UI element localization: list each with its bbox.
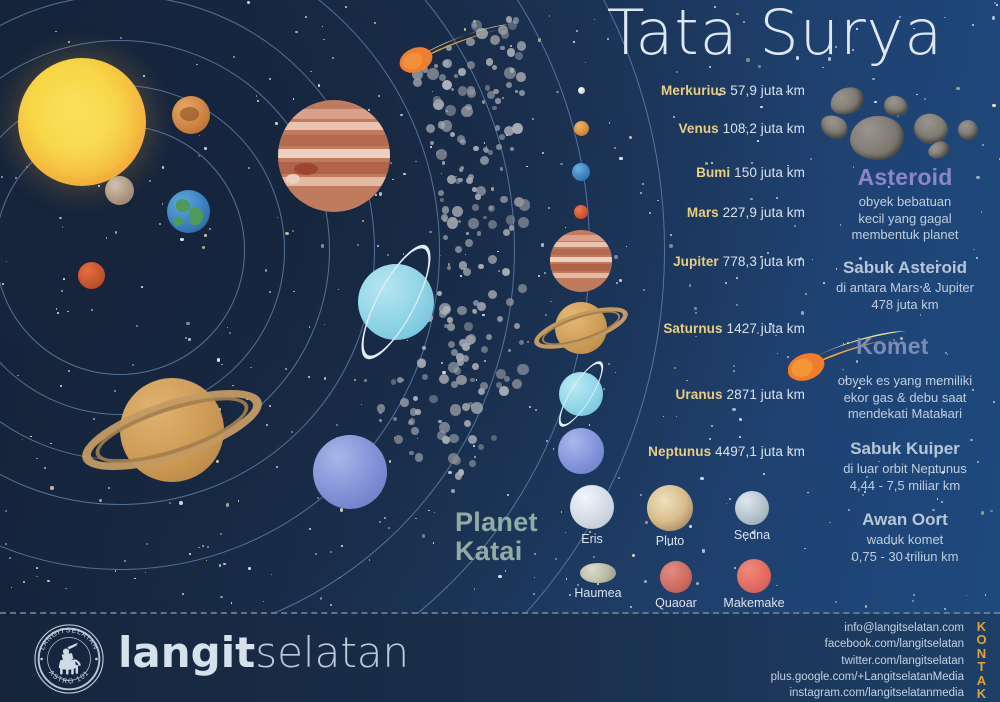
planet-row: Jupiter 778,3 juta km xyxy=(545,230,805,292)
planet-row: Venus 108,2 juta km xyxy=(545,118,805,138)
brand-thin: selatan xyxy=(255,628,409,677)
asteroid-belt-heading: Sabuk Asteroid xyxy=(810,258,1000,278)
planet-label: Neptunus 4497,1 juta km xyxy=(648,444,805,459)
infographic-poster: Tata Surya Merkurius 57,9 juta kmVenus 1… xyxy=(0,0,1000,702)
sun-illustration xyxy=(18,58,146,186)
planet-distance: 227,9 juta km xyxy=(719,205,805,220)
comet-heading: Komet xyxy=(856,333,929,360)
dwarf-planet-item: Eris xyxy=(560,485,624,546)
planet-row: Bumi 150 juta km xyxy=(545,162,805,182)
kuiper-belt-desc-line1: di luar orbit Neptunus xyxy=(810,461,1000,478)
right-info-column: Asteroid obyek bebatuan kecil yang gagal… xyxy=(810,86,1000,566)
jupiter-map-illustration xyxy=(278,100,390,212)
asteroid-rock-icon xyxy=(817,111,852,143)
planet-label: Uranus 2871 juta km xyxy=(676,387,805,402)
asteroid-heading: Asteroid xyxy=(810,164,1000,191)
dwarf-planet-item: Pluto xyxy=(638,485,702,548)
planet-name: Neptunus xyxy=(648,444,711,459)
kuiper-belt-description: di luar orbit Neptunus 4,44 - 7,5 miliar… xyxy=(810,461,1000,494)
planet-icon-bumi xyxy=(572,163,590,181)
asteroid-belt-desc-line2: 478 juta km xyxy=(810,297,1000,314)
planet-name: Merkurius xyxy=(661,83,726,98)
planet-icon-uranus xyxy=(559,372,603,416)
planet-label: Jupiter 778,3 juta km xyxy=(673,254,805,269)
planet-icon-jupiter xyxy=(550,230,612,292)
planet-name: Uranus xyxy=(676,387,723,402)
saturn-map-illustration xyxy=(120,378,224,482)
planet-distance: 150 juta km xyxy=(730,165,805,180)
dwarf-planet-icon-haumea xyxy=(580,563,616,583)
venus-map-illustration xyxy=(172,96,210,134)
dwarf-planet-name: Haumea xyxy=(566,586,630,600)
planet-label: Saturnus 1427 juta km xyxy=(663,321,805,336)
asteroid-cluster-illustration xyxy=(810,86,1000,164)
kontak-letter: A xyxy=(972,674,992,687)
asteroid-rock-icon xyxy=(882,94,910,119)
asteroid-desc-line3: membentuk planet xyxy=(810,227,1000,244)
dwarf-planet-item: Quaoar xyxy=(644,561,708,610)
kontak-letter: K xyxy=(972,620,992,633)
earth-map-illustration xyxy=(167,190,210,233)
contact-list: info@langitselatan.comfacebook.com/langi… xyxy=(714,620,964,702)
planet-row: Mars 227,9 juta km xyxy=(545,202,805,222)
oort-cloud-heading: Awan Oort xyxy=(810,510,1000,530)
dwarf-planet-name: Eris xyxy=(560,532,624,546)
dwarf-planet-name: Sedna xyxy=(720,528,784,542)
dwarf-planet-heading: Planet Katai xyxy=(455,508,565,566)
dwarf-planet-icon-sedna xyxy=(735,491,769,525)
comet-map-illustration xyxy=(398,18,514,74)
oort-cloud-description: waduk komet 0,75 - 30 triliun km xyxy=(810,532,1000,565)
mercury-map-illustration xyxy=(105,176,134,205)
dwarf-planet-icon-quaoar xyxy=(660,561,692,593)
contact-link[interactable]: twitter.com/langitselatan xyxy=(714,653,964,669)
svg-text:ASTRO 101: ASTRO 101 xyxy=(47,669,91,685)
asteroid-rock-icon xyxy=(958,120,978,140)
oort-cloud-desc-line2: 0,75 - 30 triliun km xyxy=(810,549,1000,566)
kontak-letter: T xyxy=(972,660,992,673)
neptune-map-illustration xyxy=(313,435,387,509)
planet-label: Merkurius 57,9 juta km xyxy=(661,83,805,98)
planet-label: Mars 227,9 juta km xyxy=(687,205,805,220)
kontak-letter: N xyxy=(972,647,992,660)
dwarf-planet-icon-pluto xyxy=(647,485,693,531)
asteroid-rock-icon xyxy=(827,83,867,118)
planet-distance: 778,3 juta km xyxy=(719,254,805,269)
dwarf-planet-name: Quaoar xyxy=(644,596,708,610)
contact-link[interactable]: info@langitselatan.com xyxy=(714,620,964,636)
langitselatan-logo-icon: LANGITSELATAN ASTRO 101 xyxy=(32,622,106,696)
planet-distance: 57,9 juta km xyxy=(726,83,805,98)
planet-name: Saturnus xyxy=(663,321,722,336)
uranus-map-illustration xyxy=(358,264,434,340)
planet-name: Bumi xyxy=(696,165,730,180)
asteroid-belt-desc-line1: di antara Mars & Jupiter xyxy=(810,280,1000,297)
kontak-letter: O xyxy=(972,633,992,646)
dwarf-planet-item: Makemake xyxy=(722,559,786,610)
kuiper-belt-heading: Sabuk Kuiper xyxy=(810,439,1000,459)
comet-desc-line3: mendekati Matahari xyxy=(810,406,1000,423)
oort-cloud-desc-line1: waduk komet xyxy=(810,532,1000,549)
planet-label: Venus 108,2 juta km xyxy=(679,121,805,136)
asteroid-belt-description: di antara Mars & Jupiter 478 juta km xyxy=(810,280,1000,313)
planet-label: Bumi 150 juta km xyxy=(696,165,805,180)
planet-name: Venus xyxy=(679,121,719,136)
planet-row: Neptunus 4497,1 juta km xyxy=(545,428,805,474)
dwarf-planet-icon-eris xyxy=(570,485,614,529)
planet-icon-neptunus xyxy=(558,428,604,474)
brand-wordmark: langitselatan xyxy=(118,632,409,674)
planet-distance: 4497,1 juta km xyxy=(711,444,805,459)
planet-name: Mars xyxy=(687,205,719,220)
planet-icon-merkurius xyxy=(578,87,585,94)
asteroid-desc-line2: kecil yang gagal xyxy=(810,211,1000,228)
planet-distance: 2871 juta km xyxy=(723,387,805,402)
footer-divider xyxy=(0,612,1000,614)
dwarf-planet-name: Makemake xyxy=(722,596,786,610)
contact-link[interactable]: facebook.com/langitselatan xyxy=(714,636,964,652)
kuiper-belt-desc-line2: 4,44 - 7,5 miliar km xyxy=(810,478,1000,495)
centaur-archer-glyph xyxy=(59,643,81,675)
planet-icon-mars xyxy=(574,205,588,219)
kontak-letter: K xyxy=(972,687,992,700)
planet-row: Uranus 2871 juta km xyxy=(545,372,805,416)
planet-name: Jupiter xyxy=(673,254,719,269)
mars-map-illustration xyxy=(78,262,105,289)
comet-desc-line2: ekor gas & debu saat xyxy=(810,390,1000,407)
asteroid-desc-line1: obyek bebatuan xyxy=(810,194,1000,211)
page-title: Tata Surya xyxy=(560,2,990,64)
planet-row: Saturnus 1427 juta km xyxy=(545,302,805,354)
brand-bold: langit xyxy=(118,628,255,677)
kontak-label: KONTAK xyxy=(972,620,992,700)
contact-link[interactable]: instagram.com/langitselatanmedia xyxy=(714,685,964,701)
dwarf-planet-icon-makemake xyxy=(737,559,771,593)
dwarf-planet-name: Pluto xyxy=(638,534,702,548)
planet-row: Merkurius 57,9 juta km xyxy=(545,80,805,100)
dwarf-heading-line2: Katai xyxy=(455,537,565,566)
dwarf-heading-line1: Planet xyxy=(455,508,565,537)
asteroid-description: obyek bebatuan kecil yang gagal membentu… xyxy=(810,194,1000,244)
dwarf-planet-item: Haumea xyxy=(566,563,630,600)
logo-arc-bottom: ASTRO 101 xyxy=(47,669,91,685)
asteroid-rock-icon xyxy=(848,113,906,162)
planet-distance: 108,2 juta km xyxy=(719,121,805,136)
planet-icon-venus xyxy=(574,121,589,136)
dwarf-planet-item: Sedna xyxy=(720,491,784,542)
contact-link[interactable]: plus.google.com/+LangitselatanMedia xyxy=(714,669,964,685)
planet-icon-saturnus xyxy=(555,302,607,354)
